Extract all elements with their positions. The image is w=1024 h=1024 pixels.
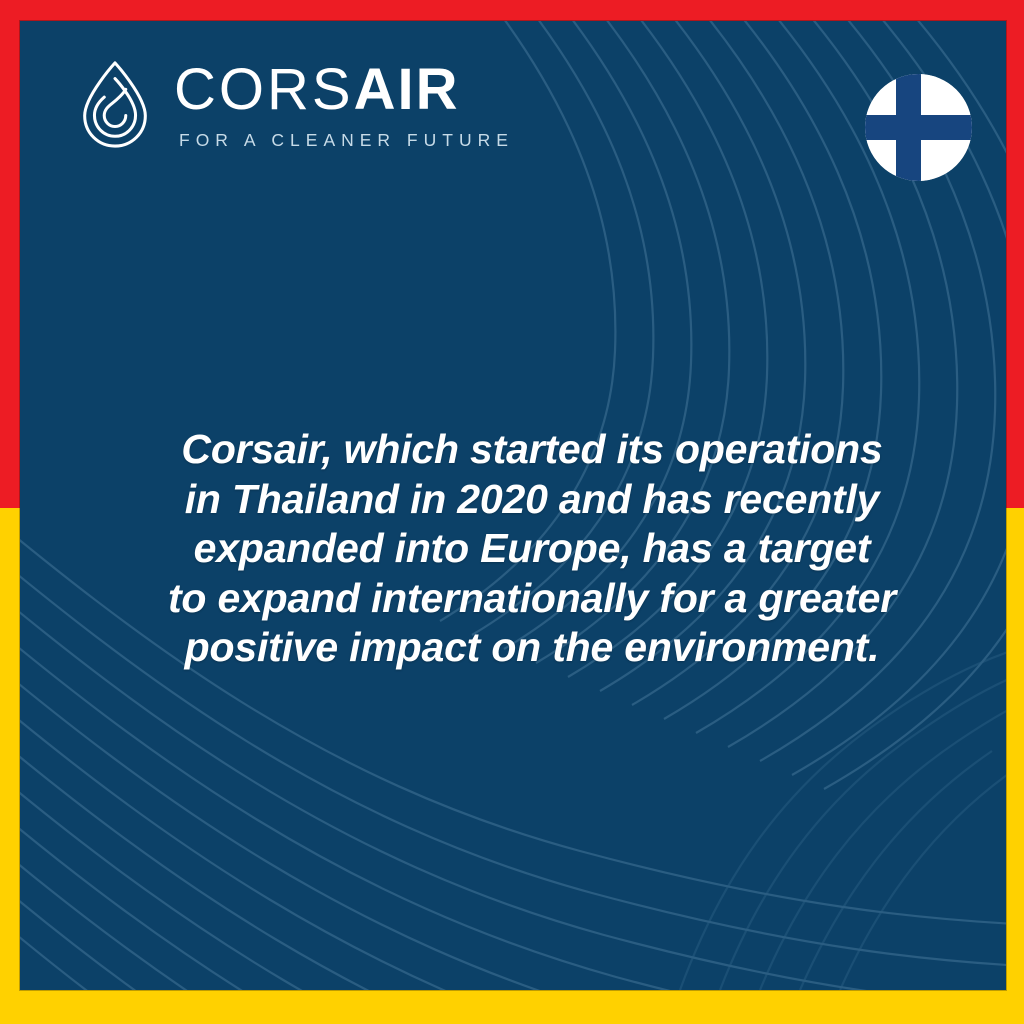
- logo-wordmark: CORSAIR: [174, 61, 514, 119]
- lower-right-sweeps: [680, 635, 1006, 990]
- water-droplet-swirl-icon: [78, 59, 152, 149]
- content-panel: CORSAIR FOR A CLEANER FUTURE Corsair, wh…: [20, 21, 1006, 990]
- logo-word-air: AIR: [354, 57, 460, 122]
- quote-line-5: positive impact on the environment.: [82, 623, 982, 673]
- logo-word-cors: CORS: [174, 57, 354, 122]
- brand-logo[interactable]: CORSAIR FOR A CLEANER FUTURE: [78, 57, 514, 151]
- quote-line-4: to expand internationally for a greater: [82, 574, 982, 624]
- quote-text: Corsair, which started its operations in…: [82, 425, 982, 673]
- quote-line-1: Corsair, which started its operations: [82, 425, 982, 475]
- social-media-card: CORSAIR FOR A CLEANER FUTURE Corsair, wh…: [0, 0, 1024, 1024]
- logo-wordmark-group: CORSAIR FOR A CLEANER FUTURE: [174, 57, 514, 151]
- quote-line-2: in Thailand in 2020 and has recently: [82, 475, 982, 525]
- quote-line-3: expanded into Europe, has a target: [82, 524, 982, 574]
- logo-tagline: FOR A CLEANER FUTURE: [174, 130, 514, 151]
- finland-flag-circle-icon: [865, 74, 972, 181]
